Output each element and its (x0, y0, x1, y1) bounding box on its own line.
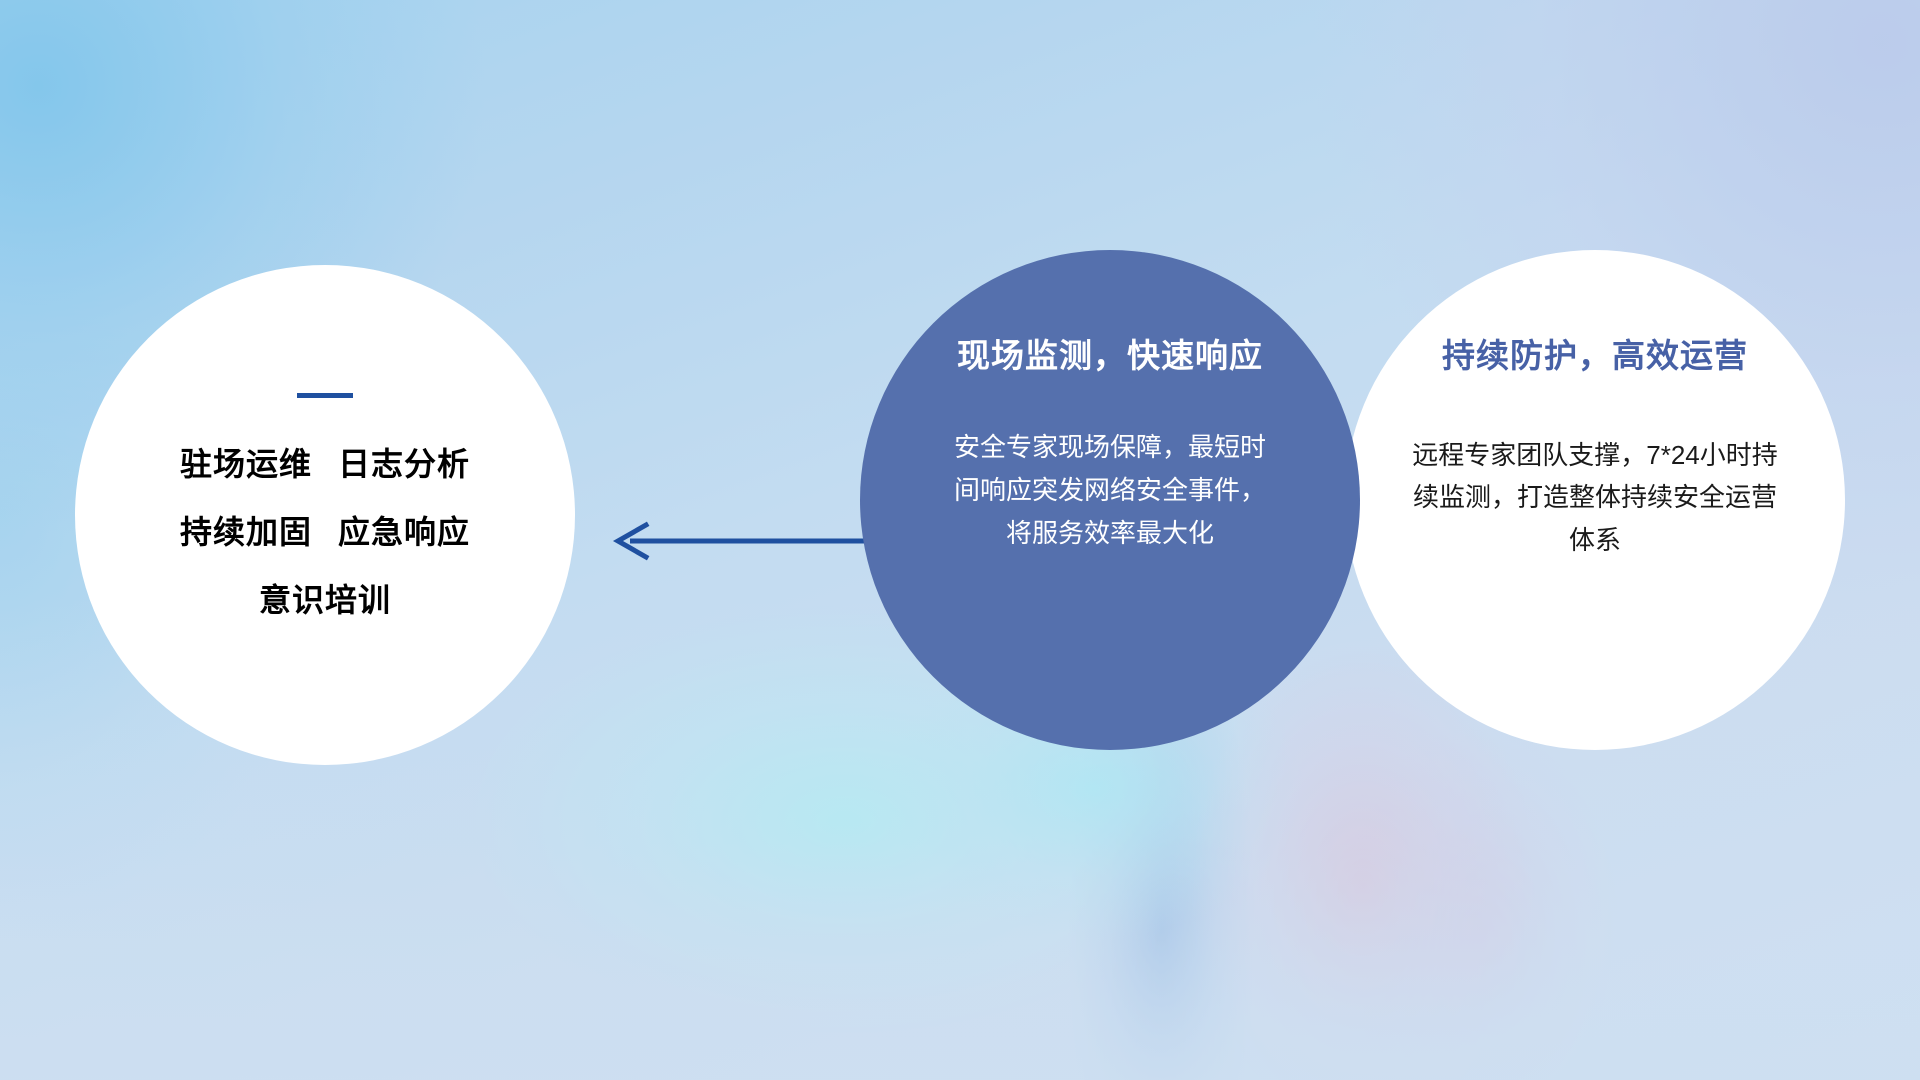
service-row-1: 驻场运维日志分析 (180, 448, 470, 480)
service-tag-yingjixiangying: 应急响应 (338, 514, 470, 550)
service-circle-right[interactable]: 持续防护，高效运营 远程专家团队支撑，7*24小时持续监测，打造整体持续安全运营… (1345, 250, 1845, 750)
service-tag-zhuchangyunwei: 驻场运维 (180, 446, 312, 482)
service-circle-middle-content: 现场监测，快速响应 安全专家现场保障，最短时间响应突发网络安全事件，将服务效率最… (860, 250, 1360, 750)
service-row-3: 意识培训 (259, 584, 391, 616)
service-circle-middle[interactable]: 现场监测，快速响应 安全专家现场保障，最短时间响应突发网络安全事件，将服务效率最… (860, 250, 1360, 750)
service-circle-right-content: 持续防护，高效运营 远程专家团队支撑，7*24小时持续监测，打造整体持续安全运营… (1345, 250, 1845, 750)
slide-canvas: 驻场运维日志分析 持续加固应急响应 意识培训 持续防护，高效运营 远程专家团队支… (0, 0, 1920, 1080)
divider-dash-icon (297, 393, 353, 398)
service-circle-left-content: 驻场运维日志分析 持续加固应急响应 意识培训 (75, 265, 575, 765)
service-row-2: 持续加固应急响应 (180, 516, 470, 548)
service-tag-rizhifenxi: 日志分析 (338, 446, 470, 482)
service-tag-yishipeixun: 意识培训 (259, 582, 391, 618)
right-circle-body: 远程专家团队支撑，7*24小时持续监测，打造整体持续安全运营体系 (1405, 434, 1785, 560)
right-circle-title: 持续防护，高效运营 (1442, 338, 1748, 374)
service-circle-left[interactable]: 驻场运维日志分析 持续加固应急响应 意识培训 (75, 265, 575, 765)
flow-arrow-icon (600, 515, 890, 567)
service-tag-chixujiagu: 持续加固 (180, 514, 312, 550)
middle-circle-body: 安全专家现场保障，最短时间响应突发网络安全事件，将服务效率最大化 (945, 426, 1275, 555)
middle-circle-title: 现场监测，快速响应 (957, 338, 1263, 374)
